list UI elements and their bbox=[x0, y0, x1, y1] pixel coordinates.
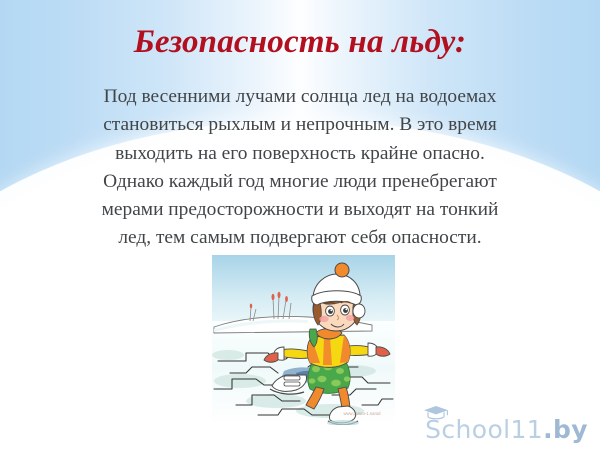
body-line: становиться рыхлым и непрочным. В это вр… bbox=[48, 111, 552, 139]
body-line: Под весенними лучами солнца лед на водое… bbox=[48, 83, 552, 111]
watermark: School11.by bbox=[425, 408, 588, 442]
slide-canvas: Безопасность на льду: Под весенними луча… bbox=[0, 0, 600, 450]
body-line: выходить на его поверхность крайне опасн… bbox=[48, 140, 552, 168]
watermark-text: School11.by bbox=[425, 415, 588, 444]
body-paragraph: Под весенними лучами солнца лед на водое… bbox=[48, 83, 552, 253]
slide-content: Безопасность на льду: Под весенними луча… bbox=[0, 0, 600, 450]
body-line: Однако каждый год многие люди пренебрега… bbox=[48, 168, 552, 196]
watermark-tld: .by bbox=[543, 415, 588, 444]
page-title: Безопасность на льду: bbox=[0, 24, 600, 61]
illustration-image: www.prawo-1.narod bbox=[212, 255, 395, 425]
body-line: мерами предосторожности и выходят на тон… bbox=[48, 196, 552, 224]
illustration-signature: www.prawo-1.narod bbox=[343, 411, 381, 416]
body-line: лед, тем самым подвергают себя опасности… bbox=[48, 224, 552, 252]
graduation-cap-icon bbox=[423, 405, 449, 420]
girl-skating-on-cracking-ice-icon: www.prawo-1.narod bbox=[212, 255, 395, 425]
